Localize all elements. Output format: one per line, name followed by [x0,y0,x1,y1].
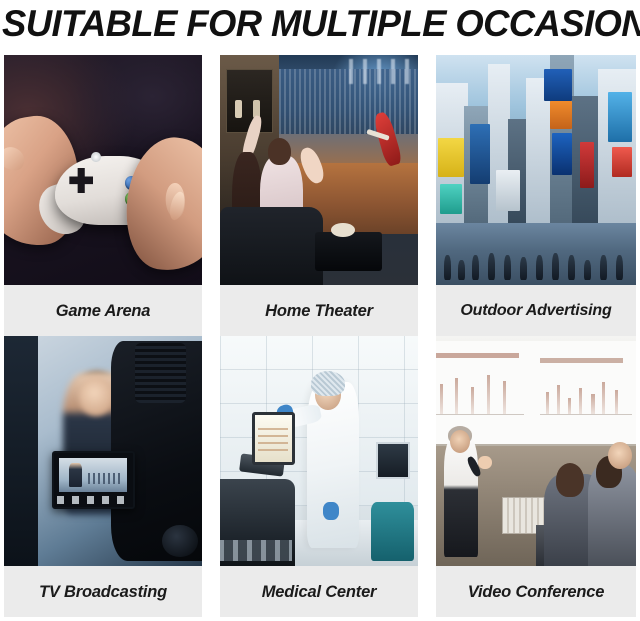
pedestrian [472,255,479,280]
billboard-skyblue [608,92,632,143]
pedestrian [520,257,527,280]
equipment-monitor [252,412,296,465]
chart-bar [487,375,490,415]
lab-chair [371,502,415,562]
slide-chart-right [540,372,632,416]
photo-tv-broadcasting [4,336,202,566]
page-title-bar: SUITABLE FOR MULTIPLE OCCASIONS [0,0,640,47]
slide-title-bar-right [540,358,623,363]
stadium-lights [349,59,418,84]
controller-guide-button [91,152,101,163]
caption-label: Medical Center [262,582,377,602]
billboard-teal [440,184,462,214]
billboard-red-right [612,147,632,177]
caption-label: Game Arena [56,301,151,321]
caption-label: Outdoor Advertising [460,300,611,321]
caption-tv-broadcasting: TV Broadcasting [4,566,202,617]
technician-glove-right [323,502,339,520]
page-title: SUITABLE FOR MULTIPLE OCCASIONS [2,5,640,43]
caption-outdoor-advertising: Outdoor Advertising [436,285,636,336]
lcd-overlay-controls [57,496,128,505]
studio-wall [4,336,38,566]
slide-chart-left [436,366,523,416]
use-case-card-video-conference[interactable]: Video Conference [436,336,636,617]
caption-home-theater: Home Theater [220,285,418,336]
coffee-table-shape [315,232,382,271]
viewer-man-head [268,138,292,166]
monitor-readout-rows [258,423,288,451]
left-finger-shape [4,145,27,173]
slide-title-bar-left [436,353,519,358]
billboard-red [580,142,594,188]
caption-label: TV Broadcasting [39,582,167,602]
pedestrian [584,260,591,281]
billboard-blue-tall [470,124,490,184]
pedestrian [536,255,543,280]
pedestrian [600,255,607,280]
billboard-blue-mid [552,133,572,174]
lcd-preview-image [59,458,127,491]
billboard-top-blue [544,69,572,101]
chart-bar [602,382,605,415]
technician-hairnet [311,371,345,396]
lab-machine [220,479,295,566]
camera-lcd-screen [52,451,135,509]
caption-game-arena: Game Arena [4,285,202,336]
machine-control-row [220,540,292,561]
use-case-card-outdoor-advertising[interactable]: Outdoor Advertising [436,55,636,336]
photo-video-conference [436,336,636,566]
caption-video-conference: Video Conference [436,566,636,617]
chart-bar [440,384,443,415]
right-hand-shape [117,131,202,278]
audience-head-1 [556,463,584,498]
caption-medical-center: Medical Center [220,566,418,617]
lcd-preview-subject [69,463,83,487]
sofa-shape [220,207,323,285]
pedestrian [552,253,559,281]
chart-bar [615,390,618,415]
pedestrian [568,255,575,280]
use-case-card-medical-center[interactable]: Medical Center [220,336,418,617]
chart-bar [471,387,474,415]
presenter-hand [478,456,492,470]
lcd-preview-background [88,473,121,484]
billboard-white [496,170,520,211]
chart-bar [546,392,549,416]
camera-lens [162,525,198,557]
use-case-card-home-theater[interactable]: Home Theater [220,55,418,336]
presenter-body [444,437,478,557]
chart-axis [540,414,632,415]
use-case-card-game-arena[interactable]: Game Arena [4,55,202,336]
chart-axis [436,414,523,415]
pedestrian [616,255,623,280]
photo-outdoor-advertising [436,55,636,285]
billboard-yellow [438,138,464,177]
chart-bar [591,394,594,415]
secondary-monitor [376,442,410,479]
use-case-grid: Game Arena [4,55,636,617]
caption-label: Home Theater [265,301,373,321]
chart-bar [503,381,506,415]
use-case-card-tv-broadcasting[interactable]: TV Broadcasting [4,336,202,617]
promo-page: SUITABLE FOR MULTIPLE OCCASIONS [0,0,640,621]
snack-bowl-shape [331,223,355,237]
photo-game-arena [4,55,202,285]
chart-bar [557,385,560,416]
chart-bar [455,378,458,415]
photo-home-theater [220,55,418,285]
photo-medical-center [220,336,418,566]
chart-bar [579,388,582,415]
pedestrian [444,255,451,280]
billboard-orange [550,101,572,129]
shotgun-microphone [135,343,186,403]
pedestrian [458,260,465,281]
pedestrian [488,253,495,281]
caption-label: Video Conference [468,582,604,602]
chart-bar [568,398,571,415]
pedestrian [504,255,511,280]
